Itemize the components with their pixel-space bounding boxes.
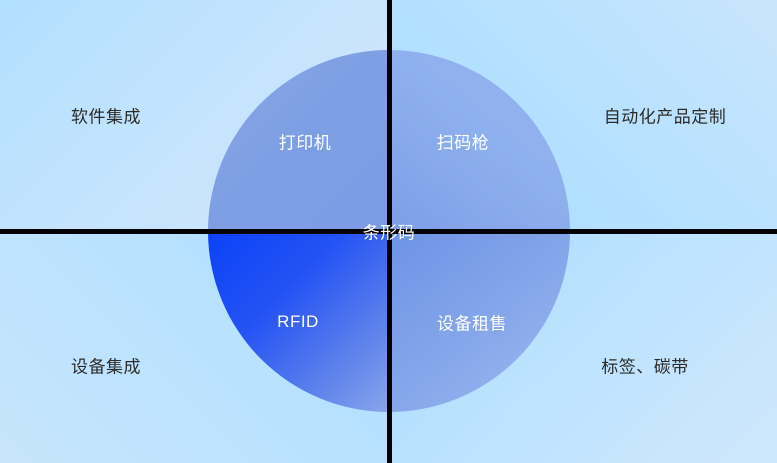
diagram-canvas: 条形码 打印机 扫码枪 RFID 设备租售 软件集成 自动化产品定制 设备集成 … <box>0 0 777 463</box>
ring-label-printer: 打印机 <box>279 129 332 154</box>
center-circle-label: 条形码 <box>363 219 416 244</box>
quadrant-label-device-integration: 设备集成 <box>71 353 141 378</box>
ring-label-rfid: RFID <box>277 312 319 332</box>
quadrant-label-automation-customized: 自动化产品定制 <box>604 103 727 128</box>
ring-label-scanner: 扫码枪 <box>437 129 490 154</box>
quadrant-label-labels-ribbons: 标签、碳带 <box>601 353 689 378</box>
ring-label-equipment-rent: 设备租售 <box>437 310 507 335</box>
quadrant-label-software-integration: 软件集成 <box>71 103 141 128</box>
